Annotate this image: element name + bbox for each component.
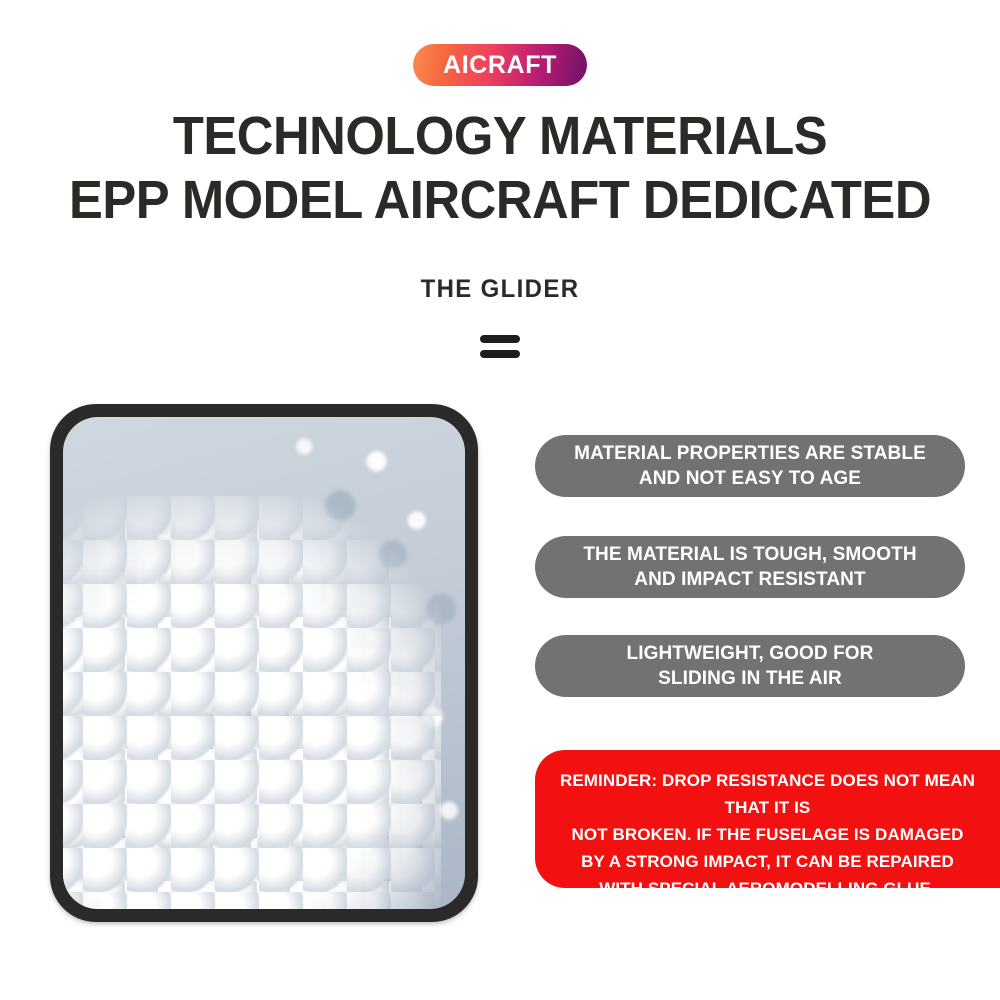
reminder-line-4: WITH SPECIAL AEROMODELLING GLUE. xyxy=(557,875,978,902)
product-photo-frame xyxy=(50,404,478,922)
feature-pill-3-line-2: SLIDING IN THE AIR xyxy=(627,666,874,691)
feature-pill-1-line-1: MATERIAL PROPERTIES ARE STABLE xyxy=(574,441,926,466)
heading-block: TECHNOLOGY MATERIALS EPP MODEL AIRCRAFT … xyxy=(0,104,1000,232)
foam-bead-texture xyxy=(63,525,433,909)
reminder-line-3: BY A STRONG IMPACT, IT CAN BE REPAIRED xyxy=(557,848,978,875)
reminder-line-1: REMINDER: DROP RESISTANCE DOES NOT MEAN … xyxy=(557,767,978,821)
brand-badge-row: AICRAFT xyxy=(0,44,1000,86)
divider-bar-bottom xyxy=(480,350,520,358)
divider-bar-top xyxy=(480,335,520,343)
reminder-line-2: NOT BROKEN. IF THE FUSELAGE IS DAMAGED xyxy=(557,821,978,848)
page-title-line-2: EPP MODEL AIRCRAFT DEDICATED xyxy=(30,168,970,232)
page-title-line-1: TECHNOLOGY MATERIALS xyxy=(30,104,970,168)
reminder-banner: REMINDER: DROP RESISTANCE DOES NOT MEAN … xyxy=(535,750,1000,888)
page-subtitle: THE GLIDER xyxy=(20,275,980,304)
product-infographic: AICRAFT TECHNOLOGY MATERIALS EPP MODEL A… xyxy=(0,0,1000,1000)
feature-pill-2-line-2: AND IMPACT RESISTANT xyxy=(583,567,916,592)
feature-pill-3-line-1: LIGHTWEIGHT, GOOD FOR xyxy=(627,641,874,666)
brand-badge: AICRAFT xyxy=(413,44,587,86)
feature-pill-1: MATERIAL PROPERTIES ARE STABLE AND NOT E… xyxy=(535,435,965,497)
feature-pill-1-line-2: AND NOT EASY TO AGE xyxy=(574,466,926,491)
product-photo xyxy=(63,417,465,909)
feature-pill-2: THE MATERIAL IS TOUGH, SMOOTH AND IMPACT… xyxy=(535,536,965,598)
feature-pill-2-line-1: THE MATERIAL IS TOUGH, SMOOTH xyxy=(583,542,916,567)
feature-pill-3: LIGHTWEIGHT, GOOD FOR SLIDING IN THE AIR xyxy=(535,635,965,697)
equals-divider-icon xyxy=(0,335,1000,358)
